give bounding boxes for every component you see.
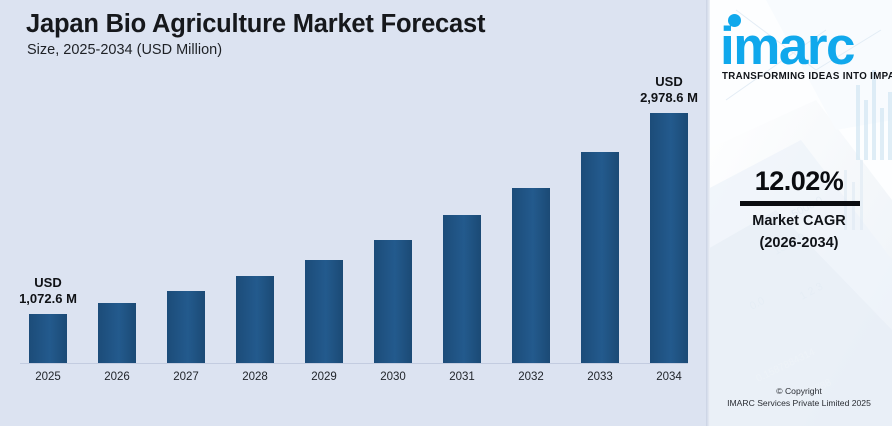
imarc-logo: imarc TRANSFORMING IDEAS INTO IMPACT [714, 8, 892, 84]
bar-2030 [374, 240, 412, 363]
bar-2029 [305, 260, 343, 363]
copyright-line1: © Copyright [706, 385, 892, 397]
x-tick-label-2031: 2031 [427, 371, 497, 383]
cagr-divider [740, 201, 860, 206]
cagr-value: 12.02% [706, 166, 892, 197]
cagr-caption: Market CAGR (2026-2034) [706, 210, 892, 254]
x-tick-label-2032: 2032 [496, 371, 566, 383]
bar-2031 [443, 215, 481, 363]
cagr-caption-line2: (2026-2034) [706, 232, 892, 254]
x-tick-label-2026: 2026 [82, 371, 152, 383]
cagr-caption-line1: Market CAGR [706, 210, 892, 232]
bar-2028 [236, 276, 274, 363]
x-axis-line [20, 363, 688, 364]
copyright-line2: IMARC Services Private Limited 2025 [706, 397, 892, 409]
x-tick-label-2034: 2034 [634, 371, 704, 383]
brand-panel: 5000.0 1500.0 0.0 1 2 3 0.1587884314 382… [706, 0, 892, 426]
infographic-root: Japan Bio Agriculture Market Forecast Si… [0, 0, 892, 426]
bar-2032 [512, 188, 550, 363]
x-tick-label-2027: 2027 [151, 371, 221, 383]
chart-panel: Japan Bio Agriculture Market Forecast Si… [0, 0, 706, 426]
bar-2026 [98, 303, 136, 363]
value-callout-amount: 1,072.6 M [0, 291, 108, 307]
value-callout-currency: USD [0, 275, 108, 291]
x-tick-label-2030: 2030 [358, 371, 428, 383]
x-tick-label-2028: 2028 [220, 371, 290, 383]
bar-2033 [581, 152, 619, 363]
bar-2034 [650, 113, 688, 363]
logo-tagline: TRANSFORMING IDEAS INTO IMPACT [722, 71, 892, 82]
logo-wordmark: imarc [720, 20, 854, 73]
x-tick-label-2029: 2029 [289, 371, 359, 383]
bar-chart-plot: 2025202620272028202920302031203220332034… [0, 0, 706, 426]
x-tick-label-2033: 2033 [565, 371, 635, 383]
value-callout-2025: USD1,072.6 M [0, 275, 108, 307]
copyright-notice: © Copyright IMARC Services Private Limit… [706, 385, 892, 409]
bar-2025 [29, 314, 67, 363]
x-tick-label-2025: 2025 [13, 371, 83, 383]
bar-2027 [167, 291, 205, 363]
